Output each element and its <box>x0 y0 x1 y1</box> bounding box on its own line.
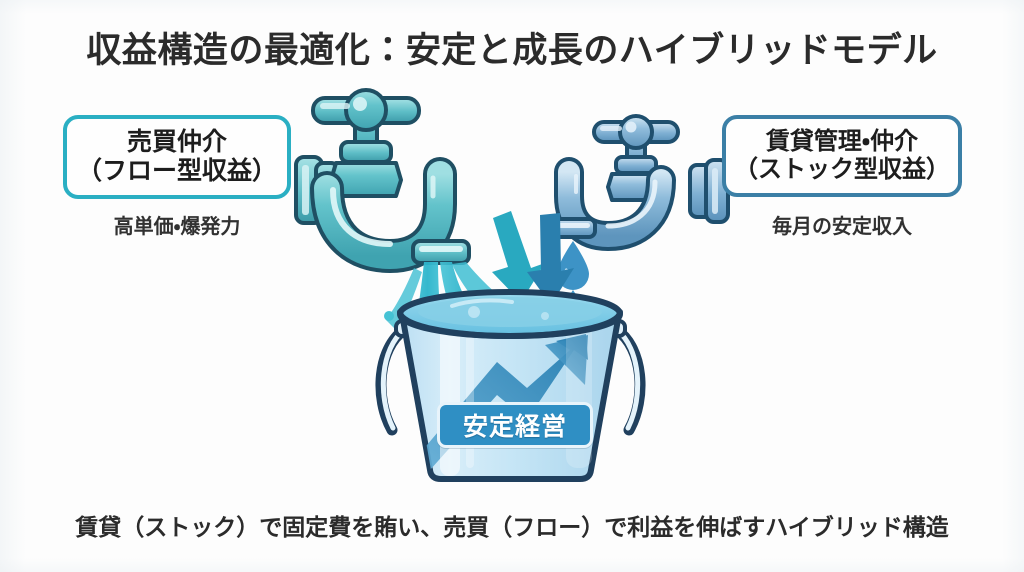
bucket-icon <box>381 292 640 479</box>
page-title: 収益構造の最適化：安定と成長のハイブリッドモデル <box>0 22 1024 73</box>
faucet-large-gushing-icon <box>296 90 469 268</box>
faucet-right-cross-handle <box>594 116 678 148</box>
flow-revenue-title: 売買仲介 <box>127 128 227 158</box>
faucet-left-cross-handle <box>313 90 419 130</box>
summary-caption: 賃貸（ストック）で固定費を賄い、売買（フロー）で利益を伸ばすハイブリッド構造 <box>0 508 1024 542</box>
faucet-left-aerator <box>413 241 469 263</box>
bucket-label-badge: 安定経営 <box>437 402 593 448</box>
flow-revenue-box[interactable]: 売買仲介 （フロー型収益） <box>63 115 291 199</box>
faucet-small-dripping-icon <box>551 116 728 237</box>
infographic-canvas: 収益構造の最適化：安定と成長のハイブリッドモデル <box>0 0 1024 572</box>
stock-revenue-title: 賃貸管理・仲介 <box>766 128 918 156</box>
stock-revenue-subtitle: （ストック型収益） <box>734 156 950 184</box>
illustration-svg <box>0 0 1024 572</box>
flow-arrow-icon <box>492 211 545 302</box>
flow-revenue-caption: 高単価・爆発力 <box>63 210 291 239</box>
flow-revenue-subtitle: （フロー型収益） <box>77 157 277 187</box>
stock-revenue-caption: 毎月の安定収入 <box>722 210 962 239</box>
stock-revenue-box[interactable]: 賃貸管理・仲介 （ストック型収益） <box>722 115 962 197</box>
bucket-label-text: 安定経営 <box>463 407 567 443</box>
